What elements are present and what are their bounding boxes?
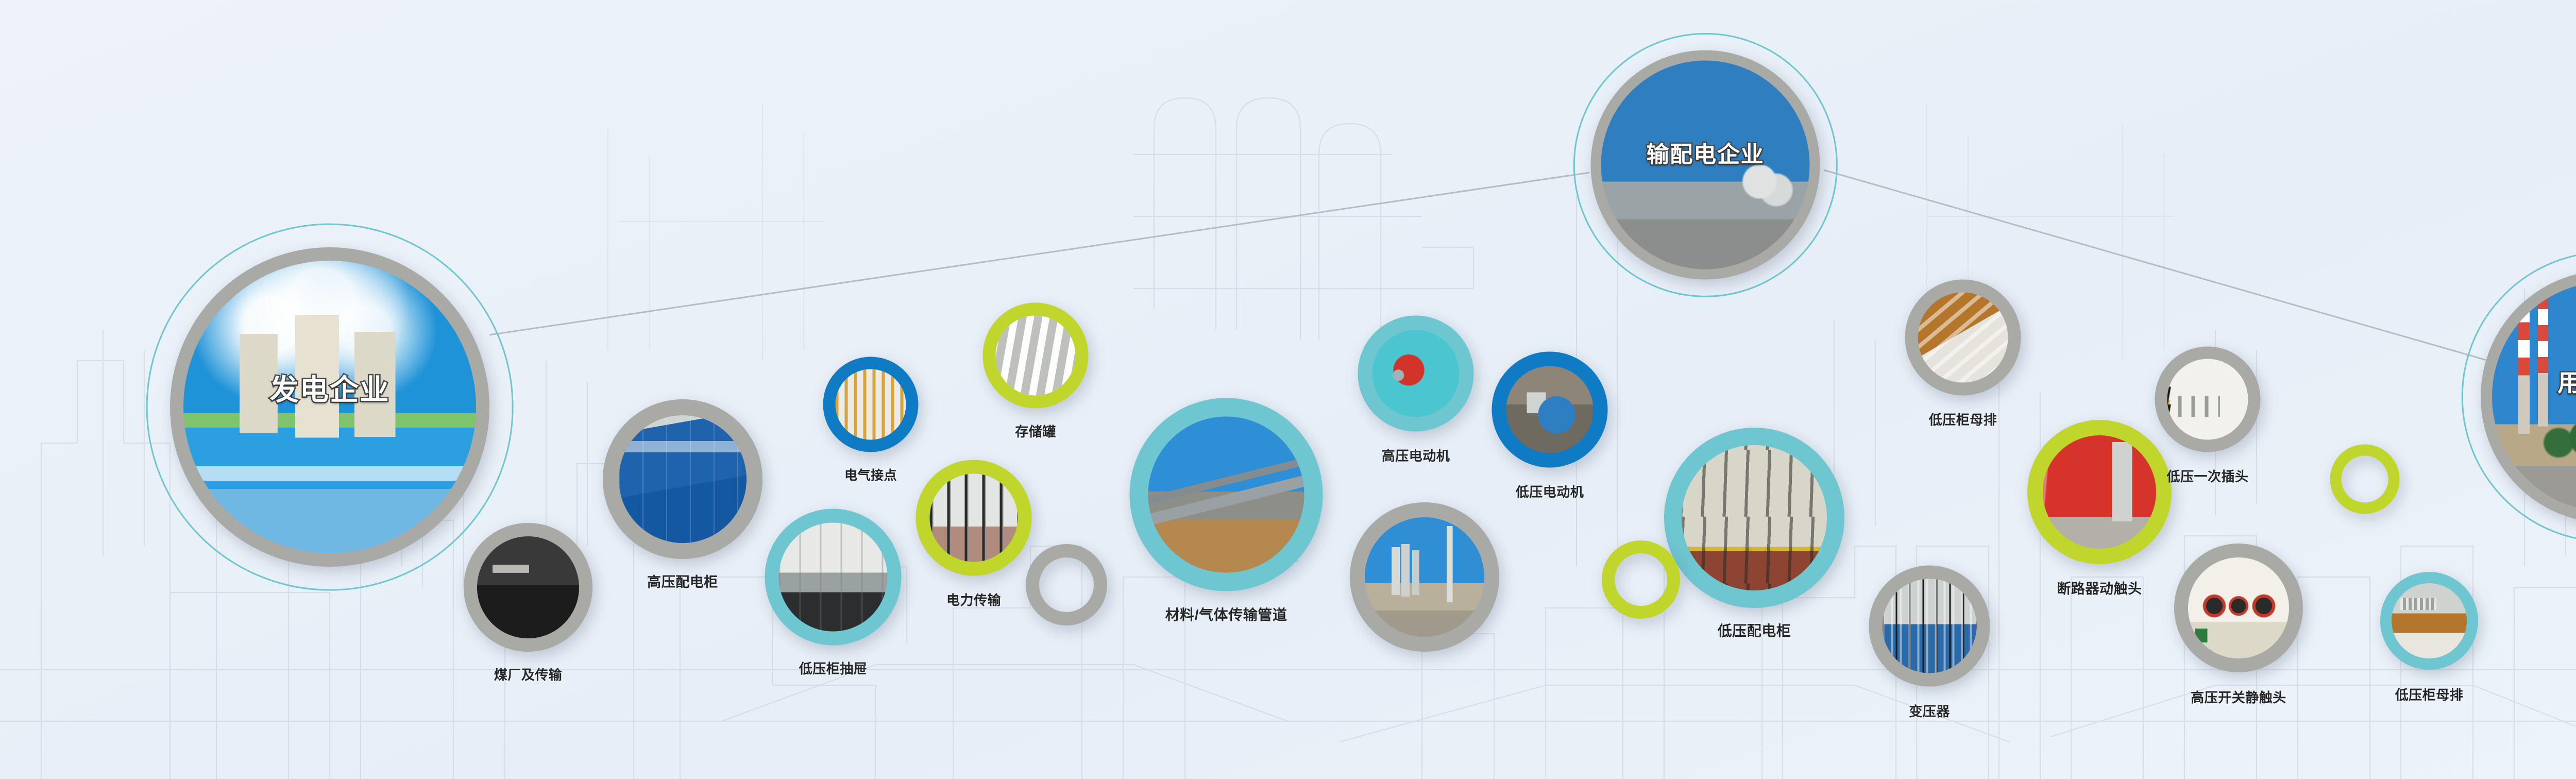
label-lv-cabinet-busbar-right: 低压柜母排: [2395, 685, 2464, 704]
ring-hv-motor: [1358, 316, 1474, 432]
photo-lv-cabinet-drawer: [779, 523, 888, 632]
photo-breaker-moving-contact: [2043, 435, 2156, 549]
label-lv-cabinet-drawer: 低压柜抽屉: [799, 658, 868, 678]
node-hv-distribution-cabinet[interactable]: [603, 399, 762, 559]
ring-material-gas-pipeline: [1130, 398, 1323, 591]
ring-electrical-contacts: [823, 357, 919, 452]
node-generation[interactable]: 发电企业: [170, 247, 489, 567]
photo-lv-motor: [1506, 366, 1594, 453]
hollow-ring-gray-mid: [1026, 544, 1107, 625]
decorative-ring: [1602, 540, 1680, 619]
label-electrical-contacts: 电气接点: [844, 465, 897, 484]
label-transformer: 变压器: [1909, 701, 1950, 720]
label-hv-distribution-cabinet: 高压配电柜: [647, 571, 718, 591]
label-breaker-moving-contact: 断路器动触头: [2057, 578, 2142, 598]
ring-lv-cabinet-busbar-top: [1905, 280, 2021, 396]
node-lv-cabinet-drawer[interactable]: [765, 509, 902, 646]
label-lv-motor: 低压电动机: [1516, 482, 1584, 501]
label-material-gas-pipeline: 材料/气体传输管道: [1165, 604, 1287, 624]
photo-hv-motor: [1372, 330, 1460, 417]
hero-label-generation: 发电企业: [270, 367, 390, 409]
ring-lv-cabinet-busbar-right: [2380, 572, 2478, 670]
photo-hv-distribution-cabinet: [619, 415, 747, 543]
node-material-gas-pipeline[interactable]: [1130, 398, 1323, 591]
hero-label-transmission_distribution: 输配电企业: [1647, 136, 1765, 169]
decorative-ring: [2330, 445, 2400, 514]
node-lv-cabinet-busbar-right[interactable]: [2380, 572, 2478, 670]
node-chemical-plant[interactable]: [1350, 502, 1499, 652]
photo-power-transmission: [930, 474, 1018, 562]
photo-hv-switch-static-contact: [2188, 557, 2289, 658]
node-lv-primary-plug[interactable]: [2155, 347, 2261, 452]
photo-transformer: [1883, 579, 1977, 673]
photo-coal-plant-transport: [477, 536, 579, 638]
photo-lv-cabinet-busbar-right: [2392, 583, 2467, 658]
label-lv-distribution-cabinet: 低压配电柜: [1718, 620, 1791, 640]
ring-chemical-plant: [1350, 502, 1499, 652]
node-breaker-moving-contact[interactable]: [2027, 420, 2172, 564]
hollow-ring-green-right: [2330, 445, 2400, 514]
node-transmission_distribution[interactable]: 输配电企业: [1591, 50, 1820, 280]
photo-storage-tank: [996, 316, 1076, 396]
hollow-ring-green-lv: [1602, 540, 1680, 619]
ring-generation: 发电企业: [170, 247, 489, 567]
node-consumption[interactable]: 用电企业: [2481, 270, 2576, 523]
decorative-ring: [1026, 544, 1107, 625]
ring-transformer: [1869, 566, 1990, 687]
label-lv-cabinet-busbar-top: 低压柜母排: [1929, 410, 1997, 429]
ring-lv-primary-plug: [2155, 347, 2261, 452]
label-power-transmission: 电力传输: [946, 590, 1001, 609]
node-lv-distribution-cabinet[interactable]: [1664, 428, 1844, 608]
ring-transmission_distribution: 输配电企业: [1591, 50, 1820, 280]
label-hv-motor: 高压电动机: [1382, 446, 1450, 465]
ring-lv-cabinet-drawer: [765, 509, 902, 646]
ring-lv-motor: [1492, 352, 1608, 468]
photo-electrical-contacts: [836, 369, 906, 440]
ring-storage-tank: [983, 303, 1089, 409]
photo-chemical-plant: [1365, 517, 1484, 637]
label-coal-plant-transport: 煤厂及传输: [494, 665, 563, 684]
node-hv-switch-static-contact[interactable]: [2174, 544, 2303, 672]
node-electrical-contacts[interactable]: [823, 357, 919, 452]
node-transformer[interactable]: [1869, 566, 1990, 687]
photo-material-gas-pipeline: [1148, 417, 1304, 573]
node-lv-motor[interactable]: [1492, 352, 1608, 468]
infographic-canvas: 煤厂及传输高压配电柜低压柜抽屉电气接点存储罐电力传输材料/气体传输管道高压电动机…: [0, 0, 2576, 779]
hero-label-consumption: 用电企业: [2557, 364, 2576, 398]
photo-lv-distribution-cabinet: [1682, 445, 1827, 590]
node-hv-motor[interactable]: [1358, 316, 1474, 432]
label-lv-primary-plug: 低压一次插头: [2166, 466, 2248, 485]
ring-hv-switch-static-contact: [2174, 544, 2303, 672]
node-power-transmission[interactable]: [916, 460, 1032, 576]
ring-consumption: 用电企业: [2481, 270, 2576, 523]
photo-lv-primary-plug: [2167, 359, 2248, 440]
ring-hv-distribution-cabinet: [603, 399, 762, 559]
label-storage-tank: 存储罐: [1015, 421, 1056, 441]
ring-lv-distribution-cabinet: [1664, 428, 1844, 608]
photo-lv-cabinet-busbar-top: [1918, 293, 2008, 383]
ring-breaker-moving-contact: [2027, 420, 2172, 564]
node-storage-tank[interactable]: [983, 303, 1089, 409]
node-lv-cabinet-busbar-top[interactable]: [1905, 280, 2021, 396]
label-hv-switch-static-contact: 高压开关静触头: [2191, 687, 2286, 706]
ring-power-transmission: [916, 460, 1032, 576]
